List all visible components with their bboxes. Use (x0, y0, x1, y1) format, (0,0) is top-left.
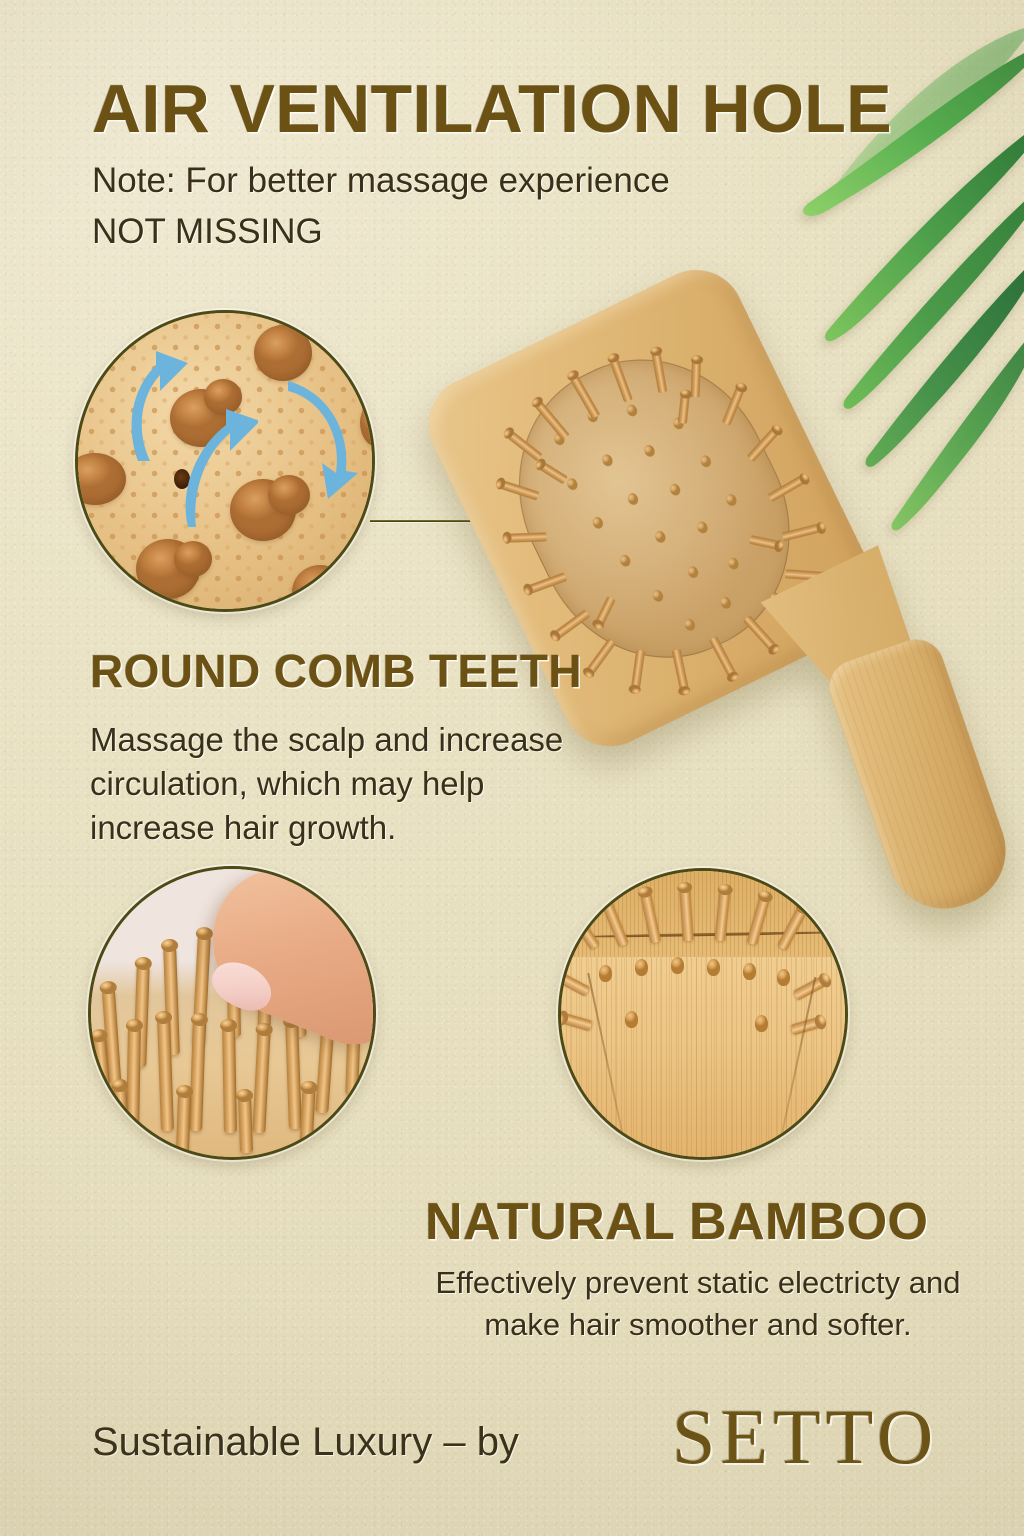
page-vignette (0, 0, 1024, 1536)
